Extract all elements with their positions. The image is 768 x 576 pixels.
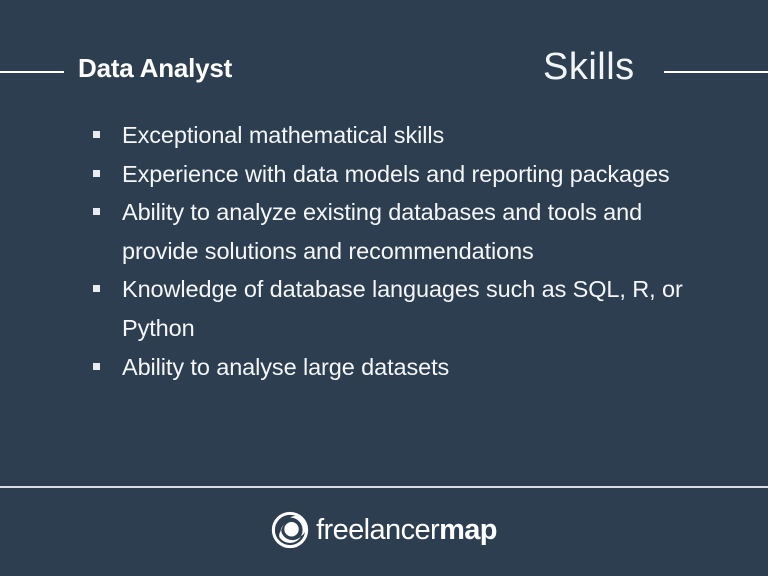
brand-name-light: freelancer [316,514,439,546]
square-bullet-icon [93,208,100,215]
slide-footer: freelancermap [0,500,768,560]
page-title: Data Analyst [78,51,232,85]
list-item: Experience with data models and reportin… [88,155,698,194]
list-item-label: Ability to analyse large datasets [122,354,449,380]
square-bullet-icon [93,285,100,292]
square-bullet-icon [93,170,100,177]
list-item-label: Ability to analyze existing databases an… [122,199,642,264]
slide-canvas: Data Analyst Skills Exceptional mathemat… [0,0,768,576]
section-title: Skills [543,42,635,92]
list-item: Exceptional mathematical skills [88,116,698,155]
list-item: Knowledge of database languages such as … [88,270,698,347]
swirl-circle-icon [271,511,309,549]
list-item-label: Exceptional mathematical skills [122,122,444,148]
skills-list: Exceptional mathematical skills Experien… [88,116,698,386]
list-item: Ability to analyse large datasets [88,348,698,387]
header-rule-right [664,71,768,73]
brand-name: freelancermap [316,513,497,547]
brand-name-bold: map [439,514,497,546]
square-bullet-icon [93,363,100,370]
list-item-label: Experience with data models and reportin… [122,161,670,187]
footer-divider [0,486,768,488]
slide-header: Data Analyst Skills [0,44,768,102]
header-rule-left [0,71,64,73]
brand-logo: freelancermap [271,511,497,549]
list-item: Ability to analyze existing databases an… [88,193,698,270]
square-bullet-icon [93,131,100,138]
list-item-label: Knowledge of database languages such as … [122,276,683,341]
